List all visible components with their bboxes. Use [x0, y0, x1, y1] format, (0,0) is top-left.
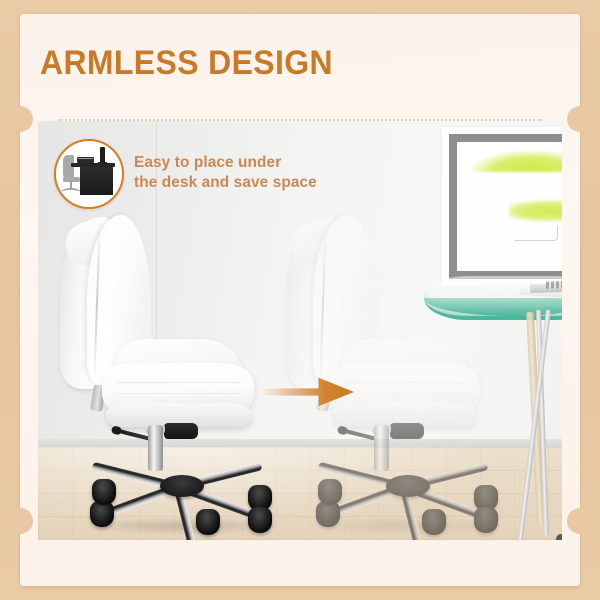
icon-monitor — [100, 147, 105, 164]
laptop — [530, 239, 562, 291]
notch-top-right — [567, 106, 593, 132]
chair-left — [60, 217, 290, 540]
desk-foot-pad — [556, 534, 562, 540]
seat-stitch-lines — [116, 373, 242, 403]
five-star-base — [314, 465, 502, 535]
caster — [196, 509, 220, 535]
notch-top-left — [7, 106, 33, 132]
notch-bottom-right — [567, 508, 593, 534]
five-star-base — [88, 465, 276, 535]
outer-frame: ARMLESS DESIGN — [0, 0, 600, 600]
caster — [248, 507, 272, 533]
foliage-upper — [469, 150, 562, 172]
icon-chair-back — [63, 155, 74, 179]
base-hub — [160, 475, 204, 497]
foliage-lower — [509, 200, 562, 222]
feature-badge-line-2: the desk and save space — [134, 173, 358, 193]
gas-lift-housing — [390, 423, 424, 439]
feature-badge: Easy to place under the desk and save sp… — [54, 139, 358, 209]
gas-lift-housing — [164, 423, 198, 439]
desk-with-chair-and-monitor-icon — [54, 139, 124, 209]
feature-badge-line-1: Easy to place under — [134, 153, 358, 173]
icon-chair-legs — [61, 188, 81, 197]
caster — [474, 507, 498, 533]
caster — [92, 479, 116, 505]
base-hub — [386, 475, 430, 497]
feature-badge-text: Easy to place under the desk and save sp… — [134, 153, 358, 192]
product-photo: Easy to place under the desk and save sp… — [38, 121, 562, 540]
laptop-keyboard — [546, 280, 562, 288]
seat-stitch-lines — [342, 373, 468, 403]
transition-arrow-icon — [260, 375, 356, 409]
caster — [422, 509, 446, 535]
notch-bottom-left — [7, 508, 33, 534]
page-title: ARMLESS DESIGN — [40, 44, 333, 83]
ticket-card: ARMLESS DESIGN — [20, 14, 580, 586]
icon-desk-body — [80, 167, 113, 195]
caster — [318, 479, 342, 505]
